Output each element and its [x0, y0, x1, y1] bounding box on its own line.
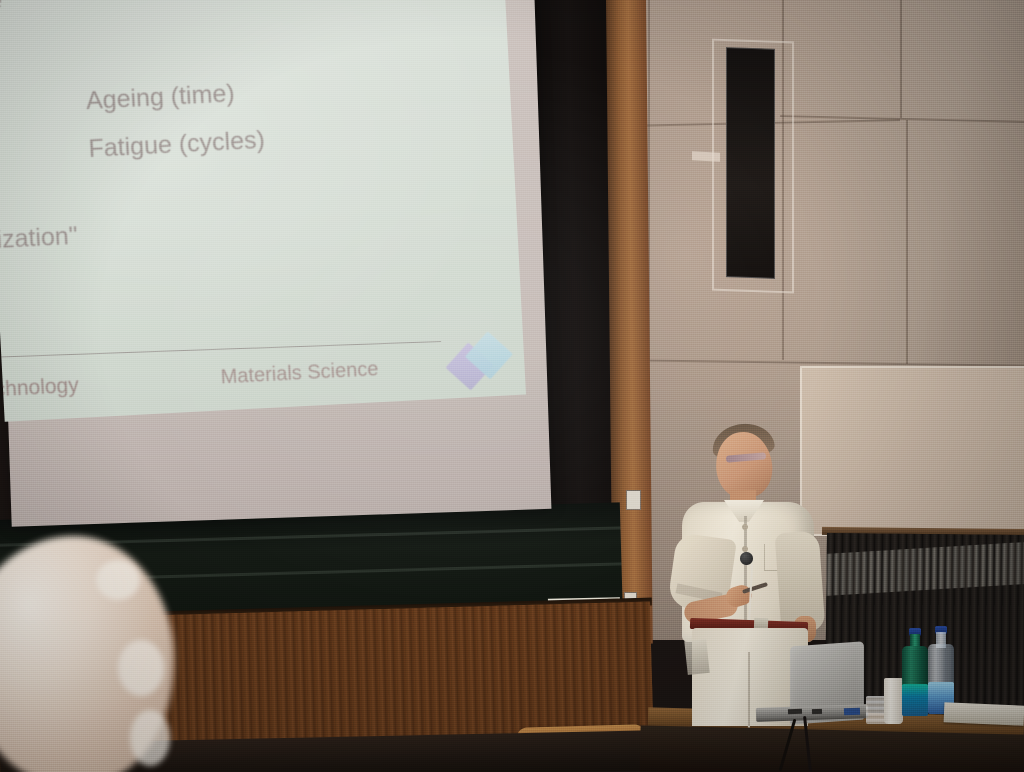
lecture-hall-photo: ciple" • Ageing (time) Fatigue (cycles) … [0, 0, 1024, 772]
slide-footer-middle: Materials Science [220, 358, 379, 389]
laptop-port-2 [812, 709, 822, 714]
shirt-placket [744, 516, 747, 636]
paper-document[interactable] [944, 702, 1024, 725]
projection-screen-surface: ciple" • Ageing (time) Fatigue (cycles) … [0, 0, 526, 422]
vga-connector[interactable] [844, 708, 860, 716]
wall-seam-vertical-3 [906, 120, 908, 364]
slide-text-fatigue: Fatigue (cycles) [88, 126, 266, 164]
slide-text-optimization: timization" [0, 222, 78, 257]
slide-footer-divider [0, 341, 441, 359]
paper-sheet-on-wall [684, 639, 709, 675]
slide-text-principle: ciple" [0, 0, 11, 17]
laptop-port-1 [788, 709, 802, 714]
two-diamonds-logo [449, 331, 514, 396]
hair-wisp-2 [118, 640, 164, 696]
wall-seam-vertical-2 [900, 0, 902, 118]
paper-cup[interactable] [884, 678, 903, 724]
hair-wisp-3 [130, 710, 170, 766]
bottle-label-green [902, 684, 928, 716]
booth-latch [692, 151, 720, 161]
slide-text-ageing: Ageing (time) [85, 79, 235, 116]
speaker-table-front [639, 725, 1024, 772]
hair-wisp-1 [96, 560, 140, 600]
slide-footer-left: echnology [0, 374, 79, 403]
shirt-button-1 [742, 524, 748, 530]
green-water-bottle[interactable] [902, 628, 928, 720]
projection-screen-frame: ciple" • Ageing (time) Fatigue (cycles) … [0, 0, 551, 527]
wall-switch-upper[interactable] [626, 490, 641, 510]
projection-booth-slot [726, 47, 775, 279]
trouser-seam [748, 652, 750, 726]
